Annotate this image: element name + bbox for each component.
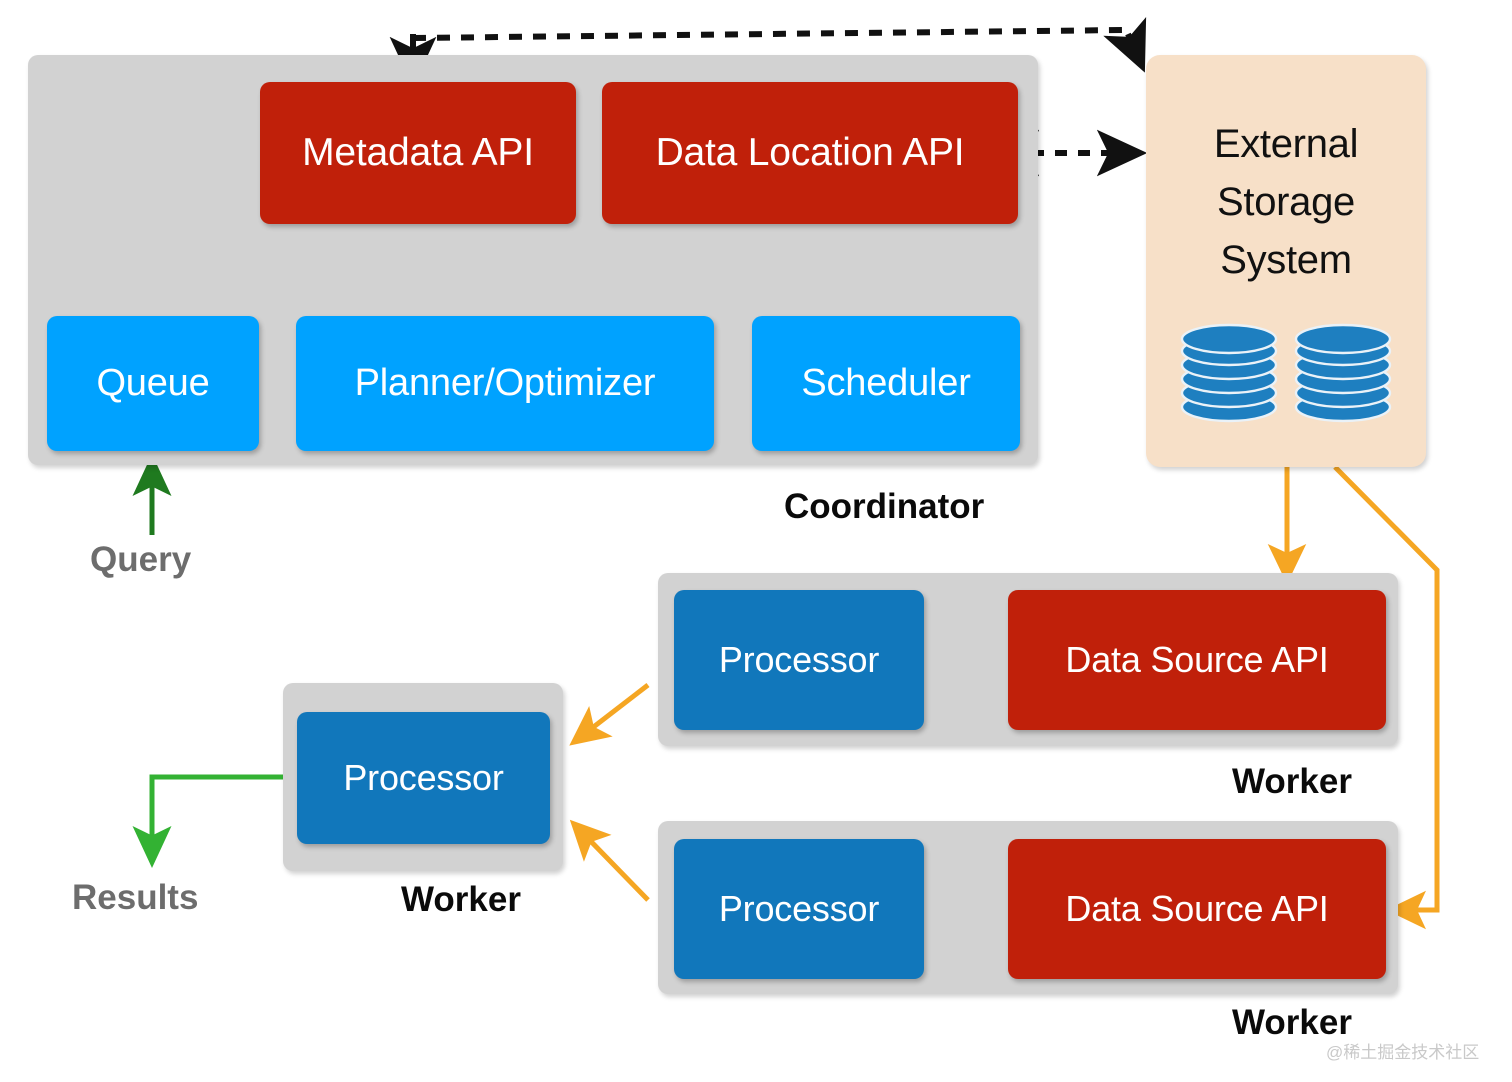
- storage-title-line-3: System: [1214, 231, 1358, 289]
- worker-top-right-data-source-api-box[interactable]: Data Source API: [1008, 590, 1386, 730]
- worker-left-processor-box[interactable]: Processor: [297, 712, 550, 844]
- external-storage-system-title: External Storage System: [1214, 115, 1358, 289]
- edge-worker2-processor-to-left-processor: [574, 824, 648, 900]
- scheduler-label: Scheduler: [801, 363, 970, 404]
- worker-bottom-right-processor-label: Processor: [719, 890, 879, 929]
- edge-worker1-processor-to-left-processor: [574, 685, 648, 742]
- worker-left-caption: Worker: [401, 880, 521, 920]
- edge-processor-to-results: [152, 777, 292, 862]
- site-watermark: @稀土掘金技术社区: [1326, 1038, 1479, 1063]
- worker-top-right-processor-label: Processor: [719, 641, 879, 680]
- worker-top-right-caption: Worker: [1232, 762, 1352, 802]
- disk-stack-icon: [1179, 323, 1279, 432]
- planner-optimizer-label: Planner/Optimizer: [355, 363, 656, 404]
- queue-label: Queue: [96, 363, 209, 404]
- diagram-canvas: Metadata API Data Location API Queue Pla…: [0, 0, 1512, 1082]
- worker-top-right-data-source-api-label: Data Source API: [1065, 641, 1328, 680]
- worker-bottom-right-data-source-api-box[interactable]: Data Source API: [1008, 839, 1386, 979]
- worker-bottom-right-caption: Worker: [1232, 1003, 1352, 1043]
- disk-stacks: [1179, 323, 1393, 432]
- query-label: Query: [90, 540, 191, 580]
- storage-title-line-1: External: [1214, 115, 1358, 173]
- coordinator-caption: Coordinator: [784, 487, 984, 527]
- storage-title-line-2: Storage: [1214, 173, 1358, 231]
- planner-optimizer-box[interactable]: Planner/Optimizer: [296, 316, 714, 451]
- disk-stack-icon: [1293, 323, 1393, 432]
- data-location-api-label: Data Location API: [656, 132, 965, 174]
- worker-bottom-right-processor-box[interactable]: Processor: [674, 839, 924, 979]
- scheduler-box[interactable]: Scheduler: [752, 316, 1020, 451]
- worker-bottom-right-data-source-api-label: Data Source API: [1065, 890, 1328, 929]
- results-label: Results: [72, 878, 198, 918]
- worker-top-right-processor-box[interactable]: Processor: [674, 590, 924, 730]
- external-storage-system-box[interactable]: External Storage System: [1146, 55, 1426, 467]
- queue-box[interactable]: Queue: [47, 316, 259, 451]
- metadata-api-box[interactable]: Metadata API: [260, 82, 576, 224]
- worker-left-processor-label: Processor: [343, 759, 503, 798]
- data-location-api-box[interactable]: Data Location API: [602, 82, 1018, 224]
- metadata-api-label: Metadata API: [302, 132, 534, 174]
